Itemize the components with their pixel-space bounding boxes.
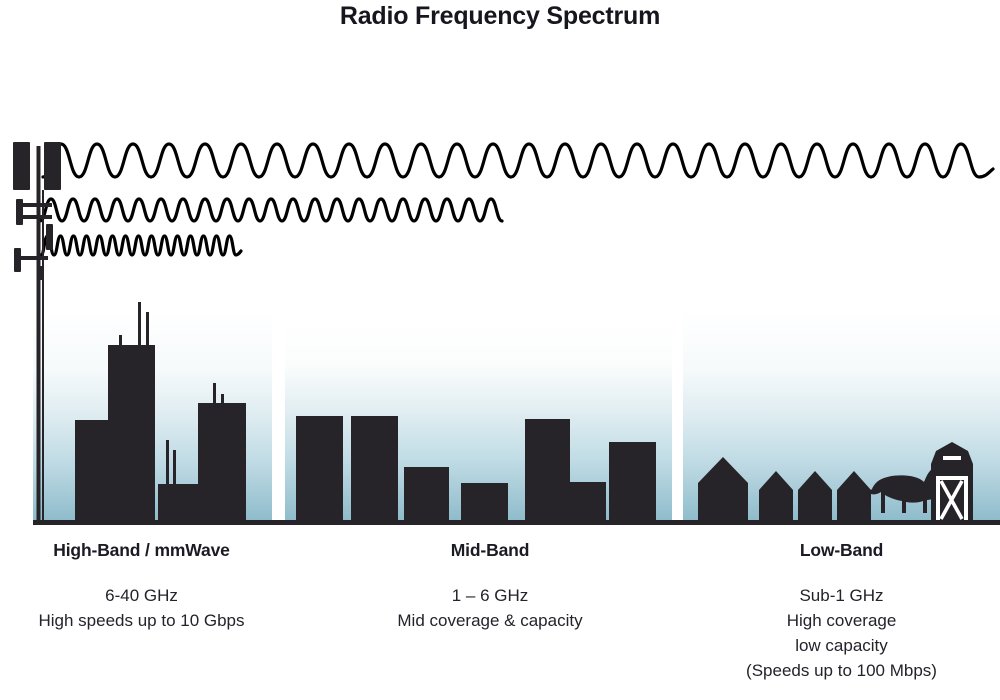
band-column-mid-band: Mid-Band 1 – 6 GHz Mid coverage & capaci… — [330, 540, 650, 633]
skyscraper-antenna-2b — [146, 312, 149, 347]
block-building-3 — [404, 467, 449, 520]
barn-loft-window — [943, 456, 961, 460]
skyscraper-low-block — [158, 484, 203, 520]
band-column-low-band: Low-Band Sub-1 GHz High coverage low cap… — [683, 540, 1000, 683]
band-frequency-low-band: Sub-1 GHz — [683, 583, 1000, 608]
antenna-panel-bottom-stub — [40, 266, 44, 280]
block-building-5 — [525, 419, 570, 520]
infographic-canvas: Radio Frequency Spectrum — [0, 0, 1000, 700]
antenna-panel-top-left — [13, 142, 30, 190]
antenna-crossarm-upper — [20, 203, 52, 207]
band-note-mid-band-1: Mid coverage & capacity — [330, 608, 650, 633]
skyscraper-right — [198, 403, 246, 520]
band-frequency-high-band: 6-40 GHz — [0, 583, 283, 608]
band-captions: High-Band / mmWave 6-40 GHz High speeds … — [0, 540, 1000, 700]
skyscraper-antenna-2a — [138, 302, 141, 347]
band-details-low-band: Sub-1 GHz High coverage low capacity (Sp… — [683, 583, 1000, 683]
band-note-high-band-1: High speeds up to 10 Gbps — [0, 608, 283, 633]
antenna-panel-mid-right — [46, 224, 53, 250]
band-details-mid-band: 1 – 6 GHz Mid coverage & capacity — [330, 583, 650, 633]
block-building-4 — [461, 483, 508, 520]
low-frequency-wave — [43, 144, 993, 177]
block-building-7 — [609, 442, 656, 520]
high-frequency-wave — [41, 236, 241, 255]
skyscraper-tall — [108, 345, 155, 520]
band-details-high-band: 6-40 GHz High speeds up to 10 Gbps — [0, 583, 283, 633]
ground-line — [33, 520, 1000, 525]
radio-waves — [40, 144, 993, 255]
block-building-1 — [296, 416, 343, 520]
band-heading-high-band: High-Band / mmWave — [0, 540, 283, 561]
block-building-2 — [351, 416, 398, 520]
band-note-low-band-3: (Speeds up to 100 Mbps) — [683, 658, 1000, 683]
page-title: Radio Frequency Spectrum — [0, 2, 1000, 31]
antenna-crossarm-bottom — [18, 256, 48, 260]
band-column-high-band: High-Band / mmWave 6-40 GHz High speeds … — [0, 540, 283, 633]
low-block-antenna-a — [166, 440, 169, 485]
band-heading-low-band: Low-Band — [683, 540, 1000, 561]
tower-mast — [37, 146, 41, 520]
low-block-antenna-b — [173, 450, 176, 485]
spectrum-figure — [0, 120, 1000, 530]
band-frequency-mid-band: 1 – 6 GHz — [330, 583, 650, 608]
band-heading-mid-band: Mid-Band — [330, 540, 650, 561]
rural-barn — [931, 442, 973, 520]
antenna-panel-mid-left — [16, 199, 23, 225]
antenna-panel-bottom-left — [14, 248, 21, 272]
band-note-low-band-2: low capacity — [683, 633, 1000, 658]
mid-frequency-wave — [40, 199, 502, 221]
antenna-panel-top-right — [44, 142, 61, 190]
spectrum-illustration — [0, 120, 1000, 530]
block-building-6 — [570, 482, 606, 520]
band-note-low-band-1: High coverage — [683, 608, 1000, 633]
tower-mast-secondary — [42, 190, 44, 520]
antenna-crossarm-lower — [20, 215, 52, 219]
